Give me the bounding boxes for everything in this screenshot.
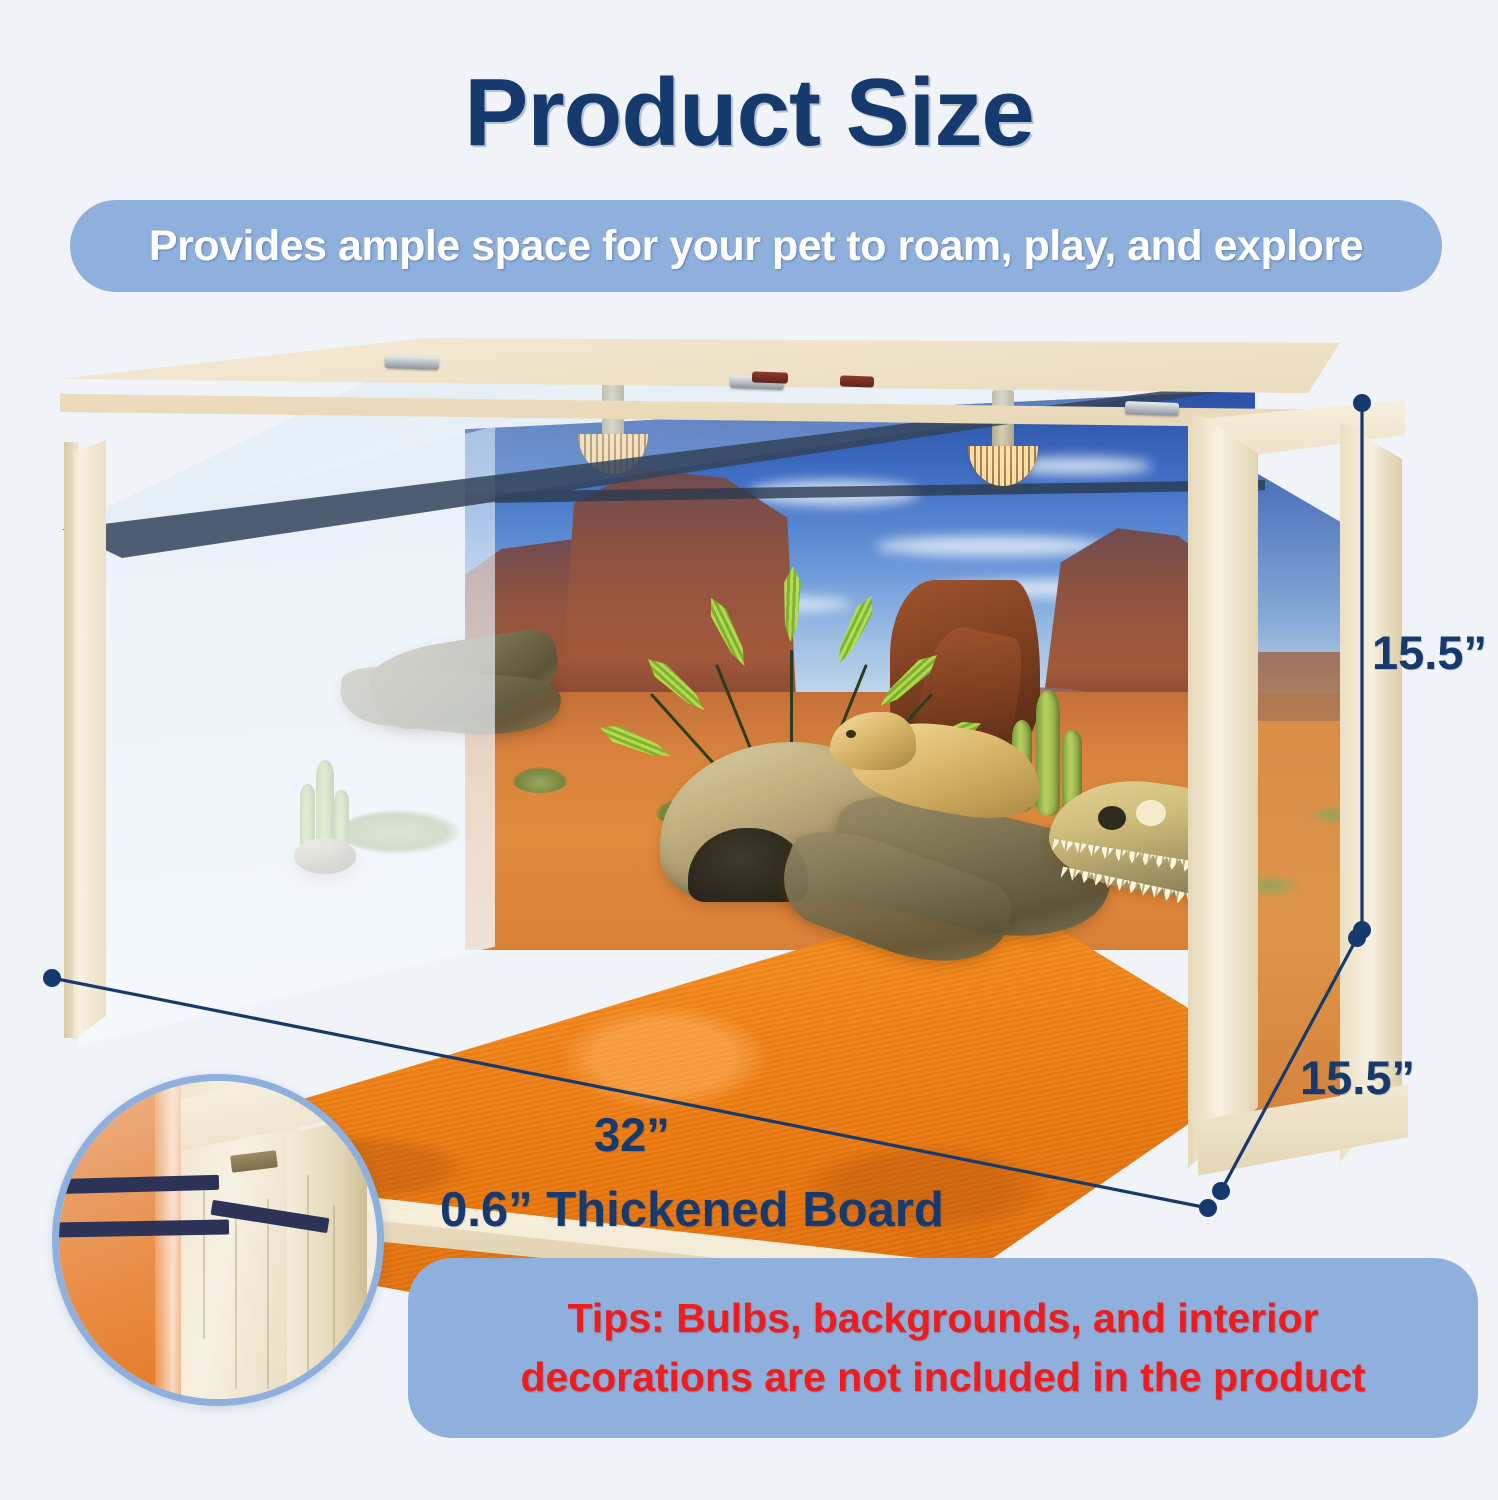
page-title: Product Size xyxy=(0,58,1498,168)
closeup-trim-strip xyxy=(53,1219,229,1237)
wood-grain xyxy=(235,1219,237,1389)
fern-frond xyxy=(642,653,710,716)
lamp-fixture-clip xyxy=(840,375,874,387)
closeup-wood-side-face xyxy=(287,1115,367,1406)
fern-frond xyxy=(704,594,753,670)
lamp-fixture-clip xyxy=(752,371,788,383)
skull-nasal-cavity xyxy=(1136,800,1166,826)
wood-grain xyxy=(267,1199,269,1389)
hinge-icon xyxy=(385,355,439,370)
wood-grain xyxy=(333,1205,335,1385)
wood-grain xyxy=(307,1175,309,1385)
fern-frond xyxy=(782,566,802,643)
hinge-icon xyxy=(1125,401,1179,416)
tips-banner: Tips: Bulbs, backgrounds, and interior d… xyxy=(408,1258,1478,1438)
tips-line-2: decorations are not included in the prod… xyxy=(520,1348,1365,1407)
corner-joint-closeup-inset xyxy=(52,1074,384,1406)
skull-eye-socket xyxy=(1098,806,1126,830)
fern-frond xyxy=(875,649,943,712)
wood-grain xyxy=(203,1189,205,1339)
subtitle-text: Provides ample space for your pet to roa… xyxy=(149,222,1363,271)
depth-label: 15.5” xyxy=(1300,1050,1415,1105)
width-label: 32” xyxy=(594,1107,670,1162)
subtitle-banner: Provides ample space for your pet to roa… xyxy=(70,200,1442,292)
height-label: 15.5” xyxy=(1372,625,1487,680)
cactus-arm xyxy=(1036,690,1060,816)
right-corner-post xyxy=(1188,408,1258,1168)
bearded-dragon-eye xyxy=(846,730,856,738)
board-thickness-label: 0.6” Thickened Board xyxy=(440,1182,944,1238)
fern-frond xyxy=(831,592,880,668)
tips-line-1: Tips: Bulbs, backgrounds, and interior xyxy=(568,1289,1319,1348)
